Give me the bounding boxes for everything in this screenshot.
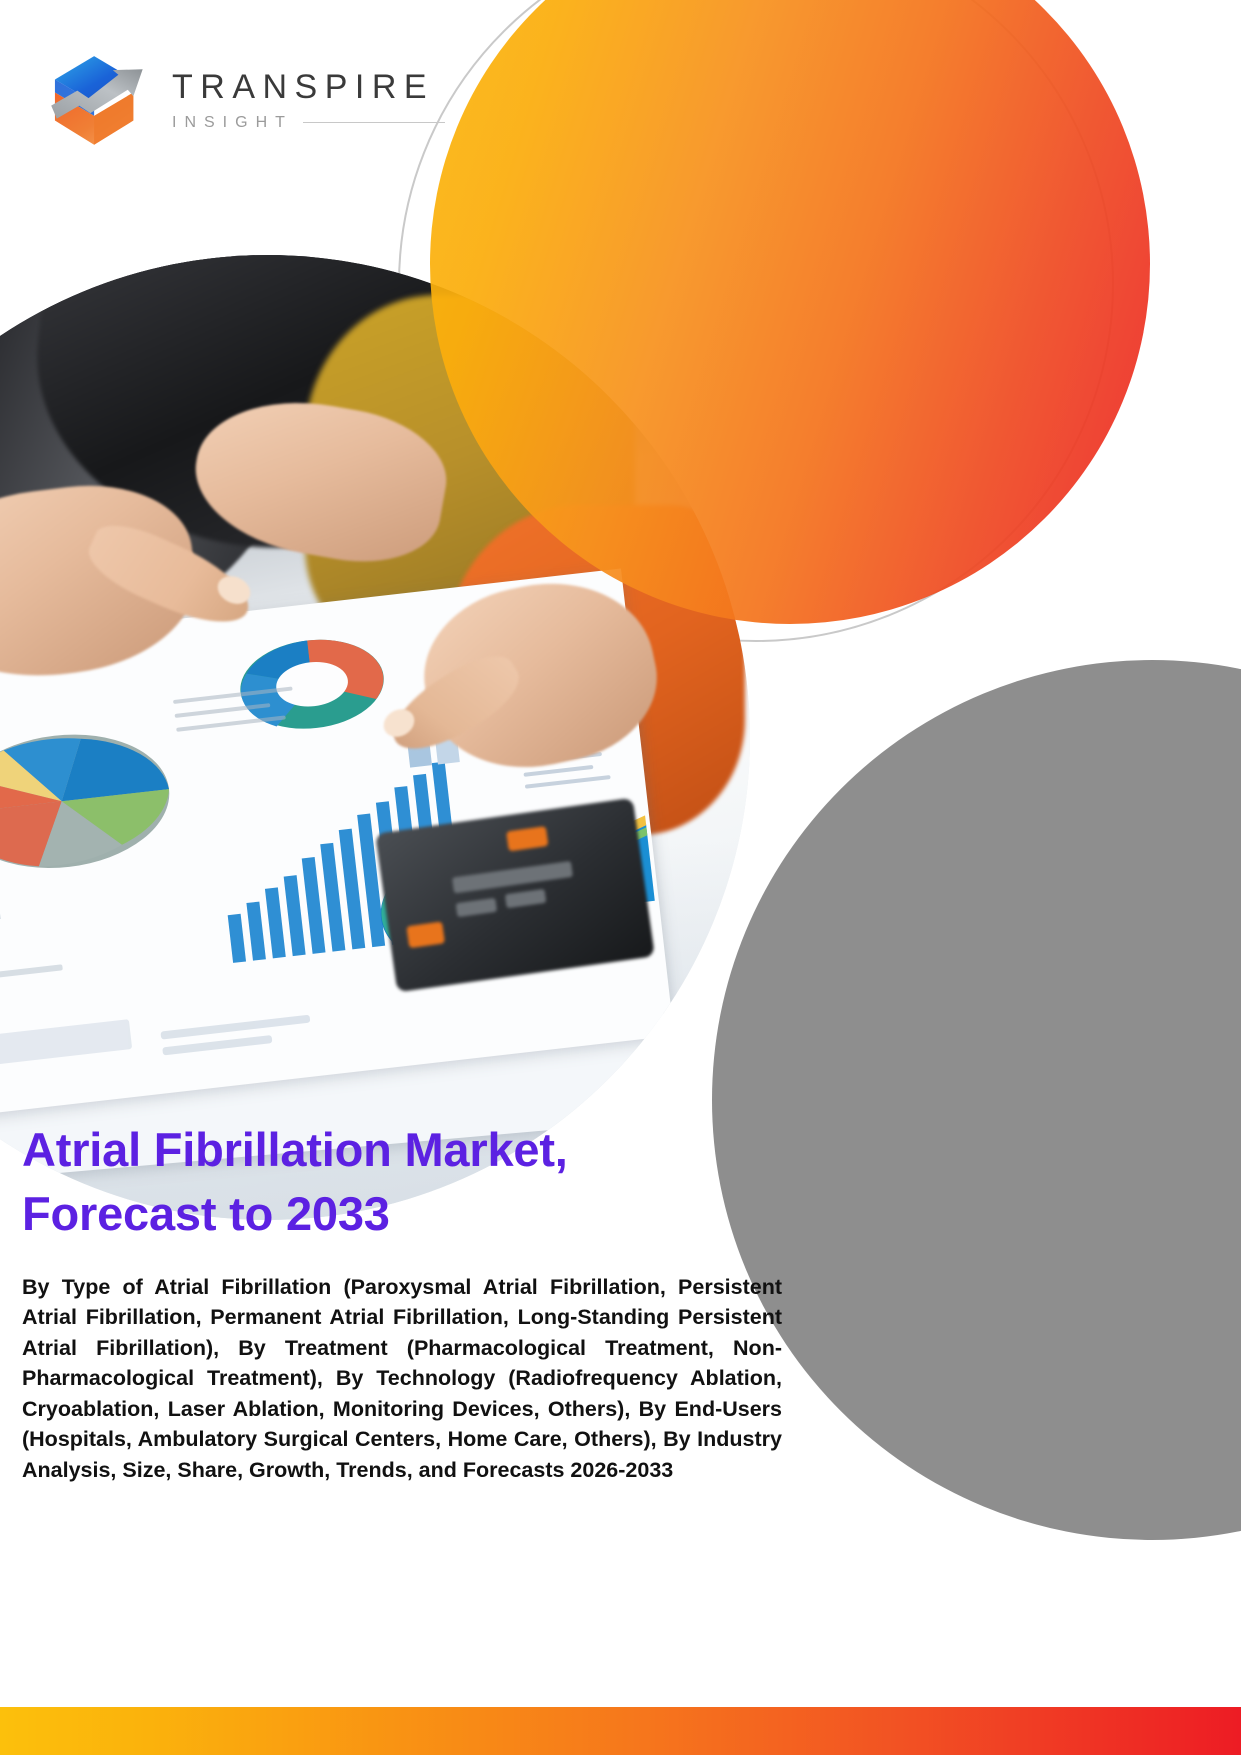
brand-tagline-row: INSIGHT — [172, 115, 445, 131]
report-cover-page: TRANSPIRE INSIGHT Atrial Fibrillation Ma… — [0, 0, 1241, 1755]
calculator-key-orange-2 — [506, 826, 548, 851]
brand-wordmark: TRANSPIRE INSIGHT — [172, 70, 445, 131]
page-title: Atrial Fibrillation Market, Forecast to … — [22, 1118, 782, 1246]
cover-text-block: Atrial Fibrillation Market, Forecast to … — [22, 1118, 782, 1485]
calculator-key — [456, 898, 498, 917]
calculator-key-orange — [406, 921, 445, 948]
page-subtitle: By Type of Atrial Fibrillation (Paroxysm… — [22, 1272, 782, 1486]
hexagon-growth-arrow-icon — [40, 44, 152, 156]
logo-divider-rule — [303, 122, 445, 123]
gray-circle-decoration — [712, 660, 1241, 1540]
bottom-gradient-bar — [0, 1707, 1241, 1755]
pie-chart — [0, 723, 176, 879]
calculator-key — [505, 889, 547, 908]
brand-tagline: INSIGHT — [172, 115, 293, 131]
calculator-display — [452, 861, 573, 894]
brand-logo[interactable]: TRANSPIRE INSIGHT — [40, 44, 445, 156]
brand-name: TRANSPIRE — [172, 70, 445, 104]
